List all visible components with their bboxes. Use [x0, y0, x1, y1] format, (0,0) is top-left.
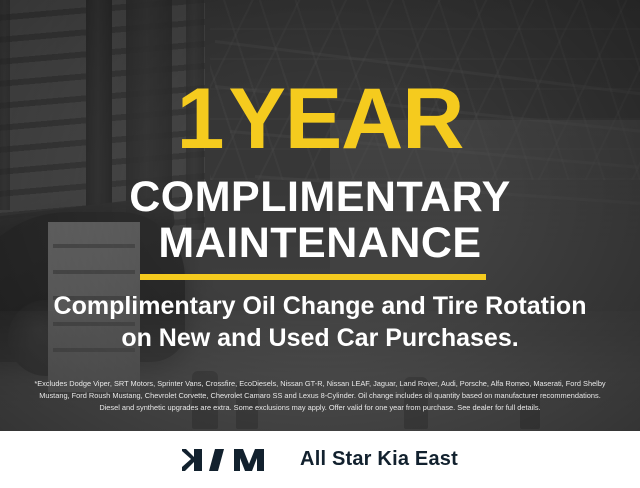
disclaimer-line-3: Diesel and synthetic upgrades are extra.…: [14, 402, 626, 414]
dealer-name: All Star Kia East: [300, 448, 458, 471]
headline-year-number: 1: [177, 71, 229, 167]
headline-year: 1YEAR: [0, 76, 640, 162]
kia-logo: [182, 447, 278, 473]
headline-year-word: YEAR: [228, 71, 463, 167]
offer-description-line-2: on New and Used Car Purchases.: [0, 324, 640, 352]
banner-content: 1YEAR COMPLIMENTARY MAINTENANCE Complime…: [0, 0, 640, 431]
headline-complimentary: COMPLIMENTARY: [0, 176, 640, 219]
banner-footer: All Star Kia East: [0, 431, 640, 488]
disclaimer-line-1: *Excludes Dodge Viper, SRT Motors, Sprin…: [14, 378, 626, 390]
promotional-banner: 1YEAR COMPLIMENTARY MAINTENANCE Complime…: [0, 0, 640, 488]
yellow-divider-rule: [140, 274, 486, 280]
offer-description-line-1: Complimentary Oil Change and Tire Rotati…: [0, 292, 640, 320]
disclaimer-text: *Excludes Dodge Viper, SRT Motors, Sprin…: [14, 378, 626, 414]
disclaimer-line-2: Mustang, Ford Roush Mustang, Chevrolet C…: [14, 390, 626, 402]
headline-maintenance: MAINTENANCE: [0, 222, 640, 265]
